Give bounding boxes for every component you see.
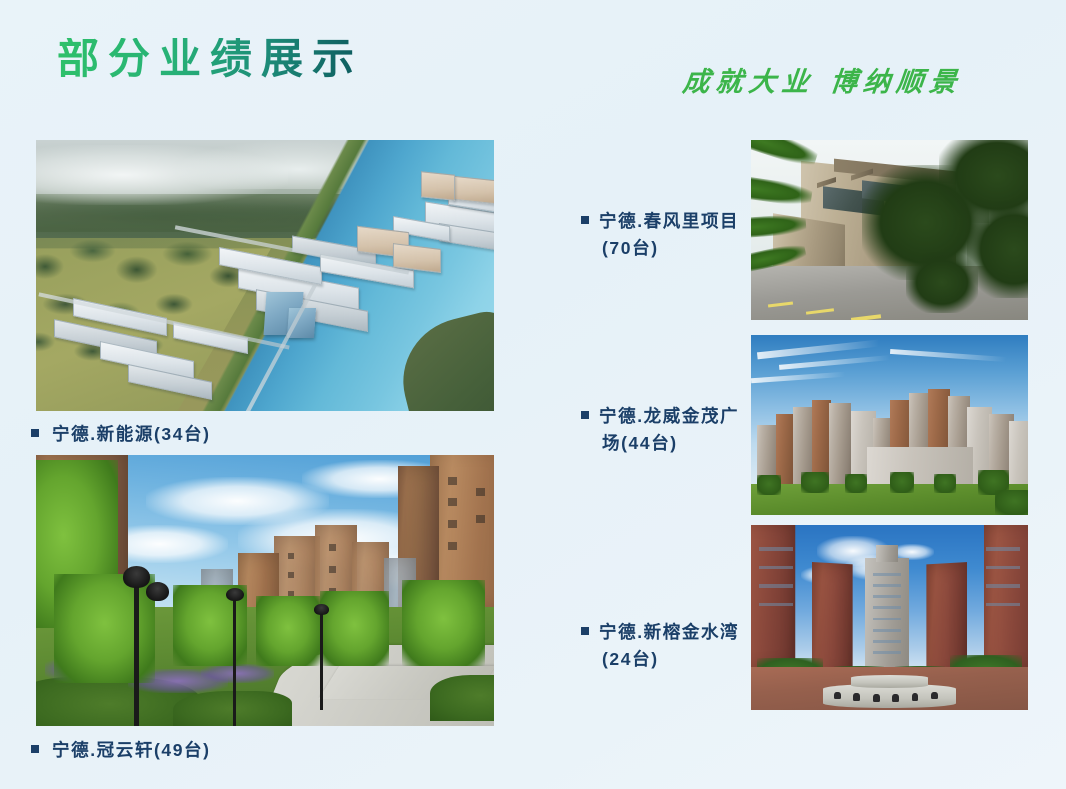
project-image-ningde-longweijinmao (751, 335, 1028, 515)
caption-ningde-guanyunxuan: 宁德.冠云轩(49台) (31, 737, 211, 764)
caption-ningde-xinnengyuan: 宁德.新能源(34台) (31, 421, 211, 448)
project-image-ningde-chunfengli (751, 140, 1028, 320)
project-image-ningde-guanyunxuan (36, 455, 494, 726)
page-title: 部分业绩展示 (57, 38, 363, 80)
slogan-subtitle: 成就大业 博纳顺景 (681, 60, 965, 99)
bullet-square-icon (31, 745, 39, 753)
bullet-square-icon (31, 429, 39, 437)
bullet-square-icon (581, 411, 589, 419)
caption-ningde-xinrongjinshuiwan: 宁德.新榕金水湾 (24台) (581, 619, 756, 673)
caption-ningde-longweijinmao: 宁德.龙威金茂广 场(44台) (581, 403, 756, 457)
bullet-square-icon (581, 627, 589, 635)
project-image-ningde-xinnengyuan (36, 140, 494, 411)
project-image-ningde-xinrongjinshuiwan (751, 525, 1028, 710)
caption-ningde-chunfengli: 宁德.春风里项目 (70台) (581, 208, 756, 262)
slide-canvas: 部分业绩展示 成就大业 博纳顺景 (0, 0, 1066, 789)
bullet-square-icon (581, 216, 589, 224)
